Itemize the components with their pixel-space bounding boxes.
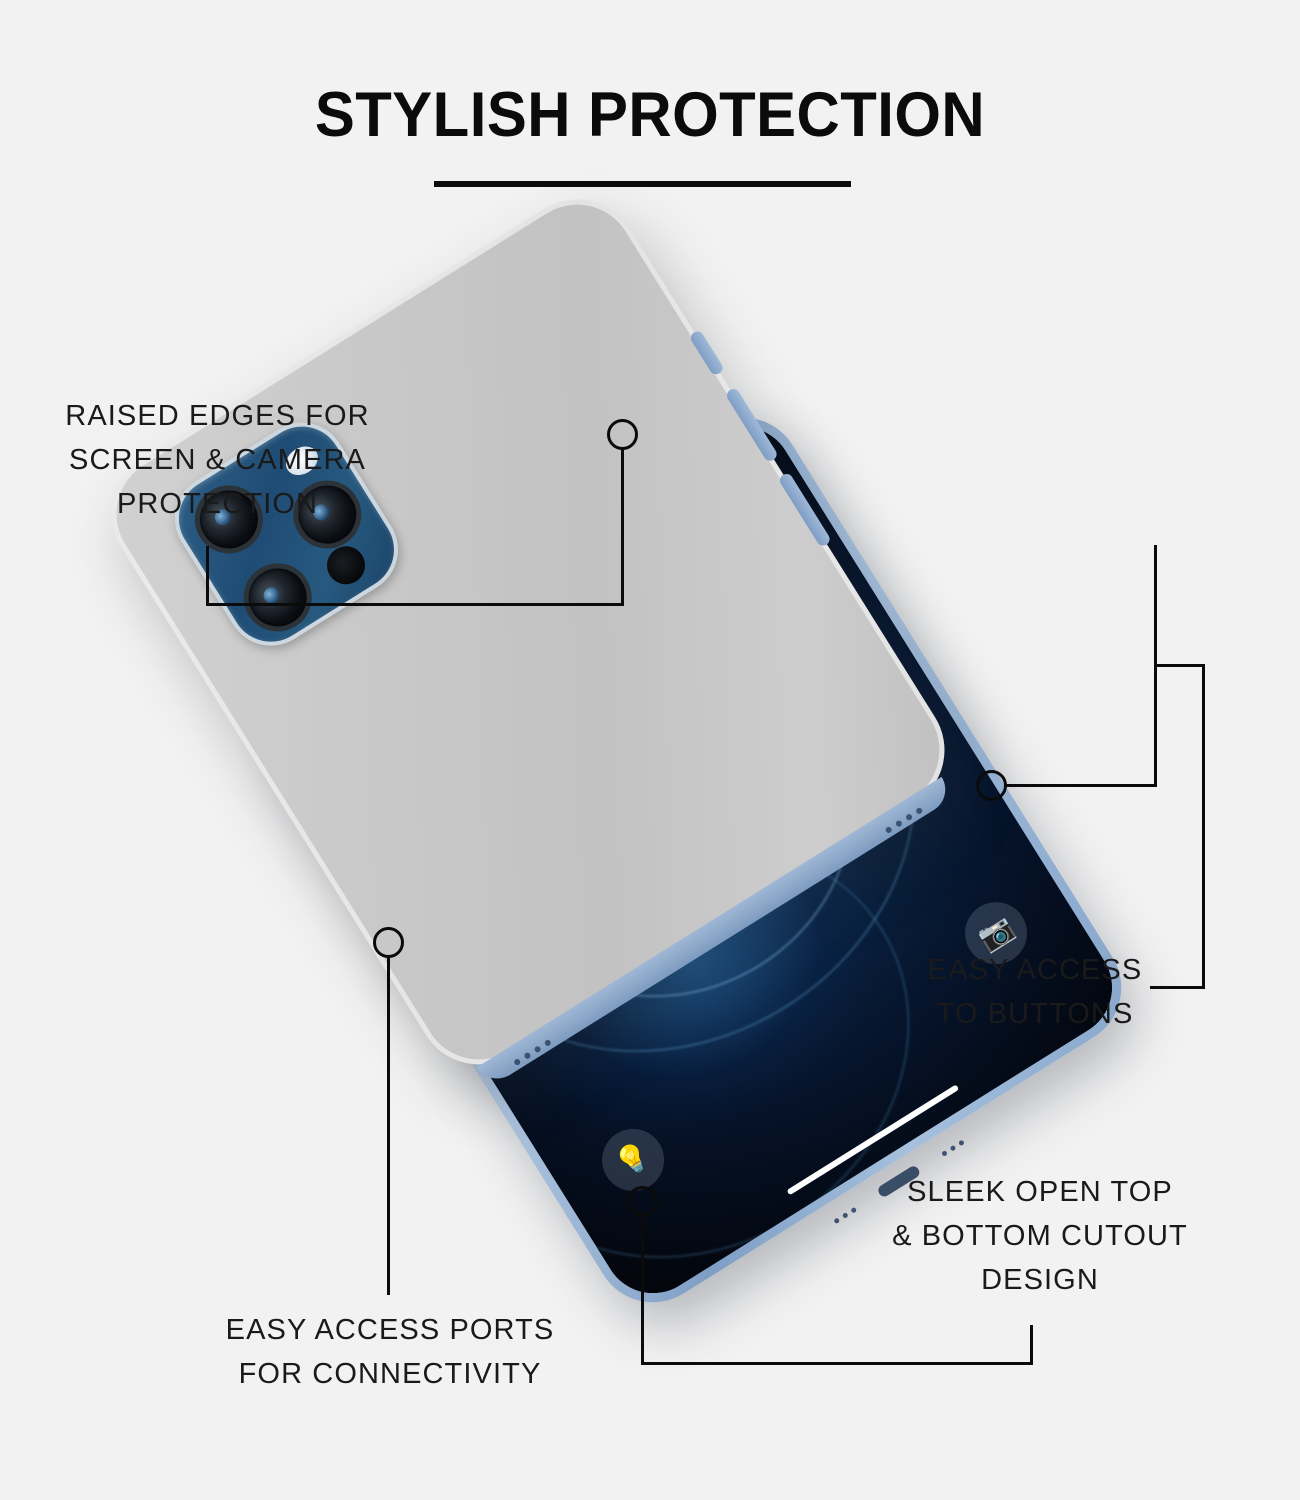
callout-marker-camera-edge [607,419,638,450]
camera-lens [231,551,325,645]
leader-segment [1004,784,1157,787]
callout-line: EASY ACCESS PORTS [215,1308,565,1352]
wallpaper-glow [414,559,908,1042]
callout-line: SCREEN & CAMERA [30,438,405,482]
callout-line: EASY ACCESS [880,948,1190,992]
case-bottom-cutout [477,777,954,1088]
wallpaper-arc [525,677,840,984]
leader-segment [1030,1325,1033,1365]
speaker-grille-right [941,1139,965,1156]
title-underline [434,181,851,187]
header: STYLISH PROTECTION [0,84,1300,147]
leader-segment [1202,664,1205,989]
leader-segment [387,955,390,1295]
wallpaper-arc [436,599,915,1064]
callout-raised-edges: RAISED EDGES FOR SCREEN & CAMERA PROTECT… [30,394,405,526]
page-title: STYLISH PROTECTION [33,84,1268,147]
leader-segment [641,1362,1033,1365]
callout-sleek-cutout-design: SLEEK OPEN TOP & BOTTOM CUTOUT DESIGN [880,1170,1200,1302]
case-button-cutout [725,387,779,463]
infographic-canvas: 🔓 10:12 Monday 26 October 💡 📷 [0,0,1300,1500]
callout-marker-ports [373,927,404,958]
callout-line: PROTECTION [30,482,405,526]
case-button-cutout [689,329,725,377]
device-notch [424,507,616,643]
lockscreen-time: 10:12 [314,486,861,880]
speaker-grille-left [833,1206,857,1223]
callout-line: & BOTTOM CUTOUT [880,1214,1200,1258]
case-speaker-grille [513,1039,552,1066]
leader-segment [641,1214,644,1364]
leader-segment [206,546,209,606]
case-speaker-grille [885,807,924,834]
case-raised-rim [88,176,968,1088]
callout-marker-bottom-cutout [627,1186,658,1217]
callout-line: DESIGN [880,1258,1200,1302]
callout-line: TO BUTTONS [880,992,1190,1036]
callout-line: SLEEK OPEN TOP [880,1170,1200,1214]
callout-line: FOR CONNECTIVITY [215,1352,565,1396]
lockscreen-date: Monday 26 October [369,574,878,907]
wallpaper-arc [347,514,1000,1142]
callout-easy-access-ports: EASY ACCESS PORTS FOR CONNECTIVITY [215,1308,565,1396]
case-button-cutout [778,472,832,548]
callout-easy-access-buttons: EASY ACCESS TO BUTTONS [880,948,1190,1036]
lock-icon: 🔓 [529,605,577,650]
callout-line: RAISED EDGES FOR [30,394,405,438]
case-body [88,176,968,1088]
phone-case [88,176,968,1088]
leader-segment [206,603,624,606]
leader-segment [621,448,624,606]
leader-segment [1154,664,1205,667]
lidar-sensor-icon [320,539,372,591]
callout-marker-side-button [976,770,1007,801]
